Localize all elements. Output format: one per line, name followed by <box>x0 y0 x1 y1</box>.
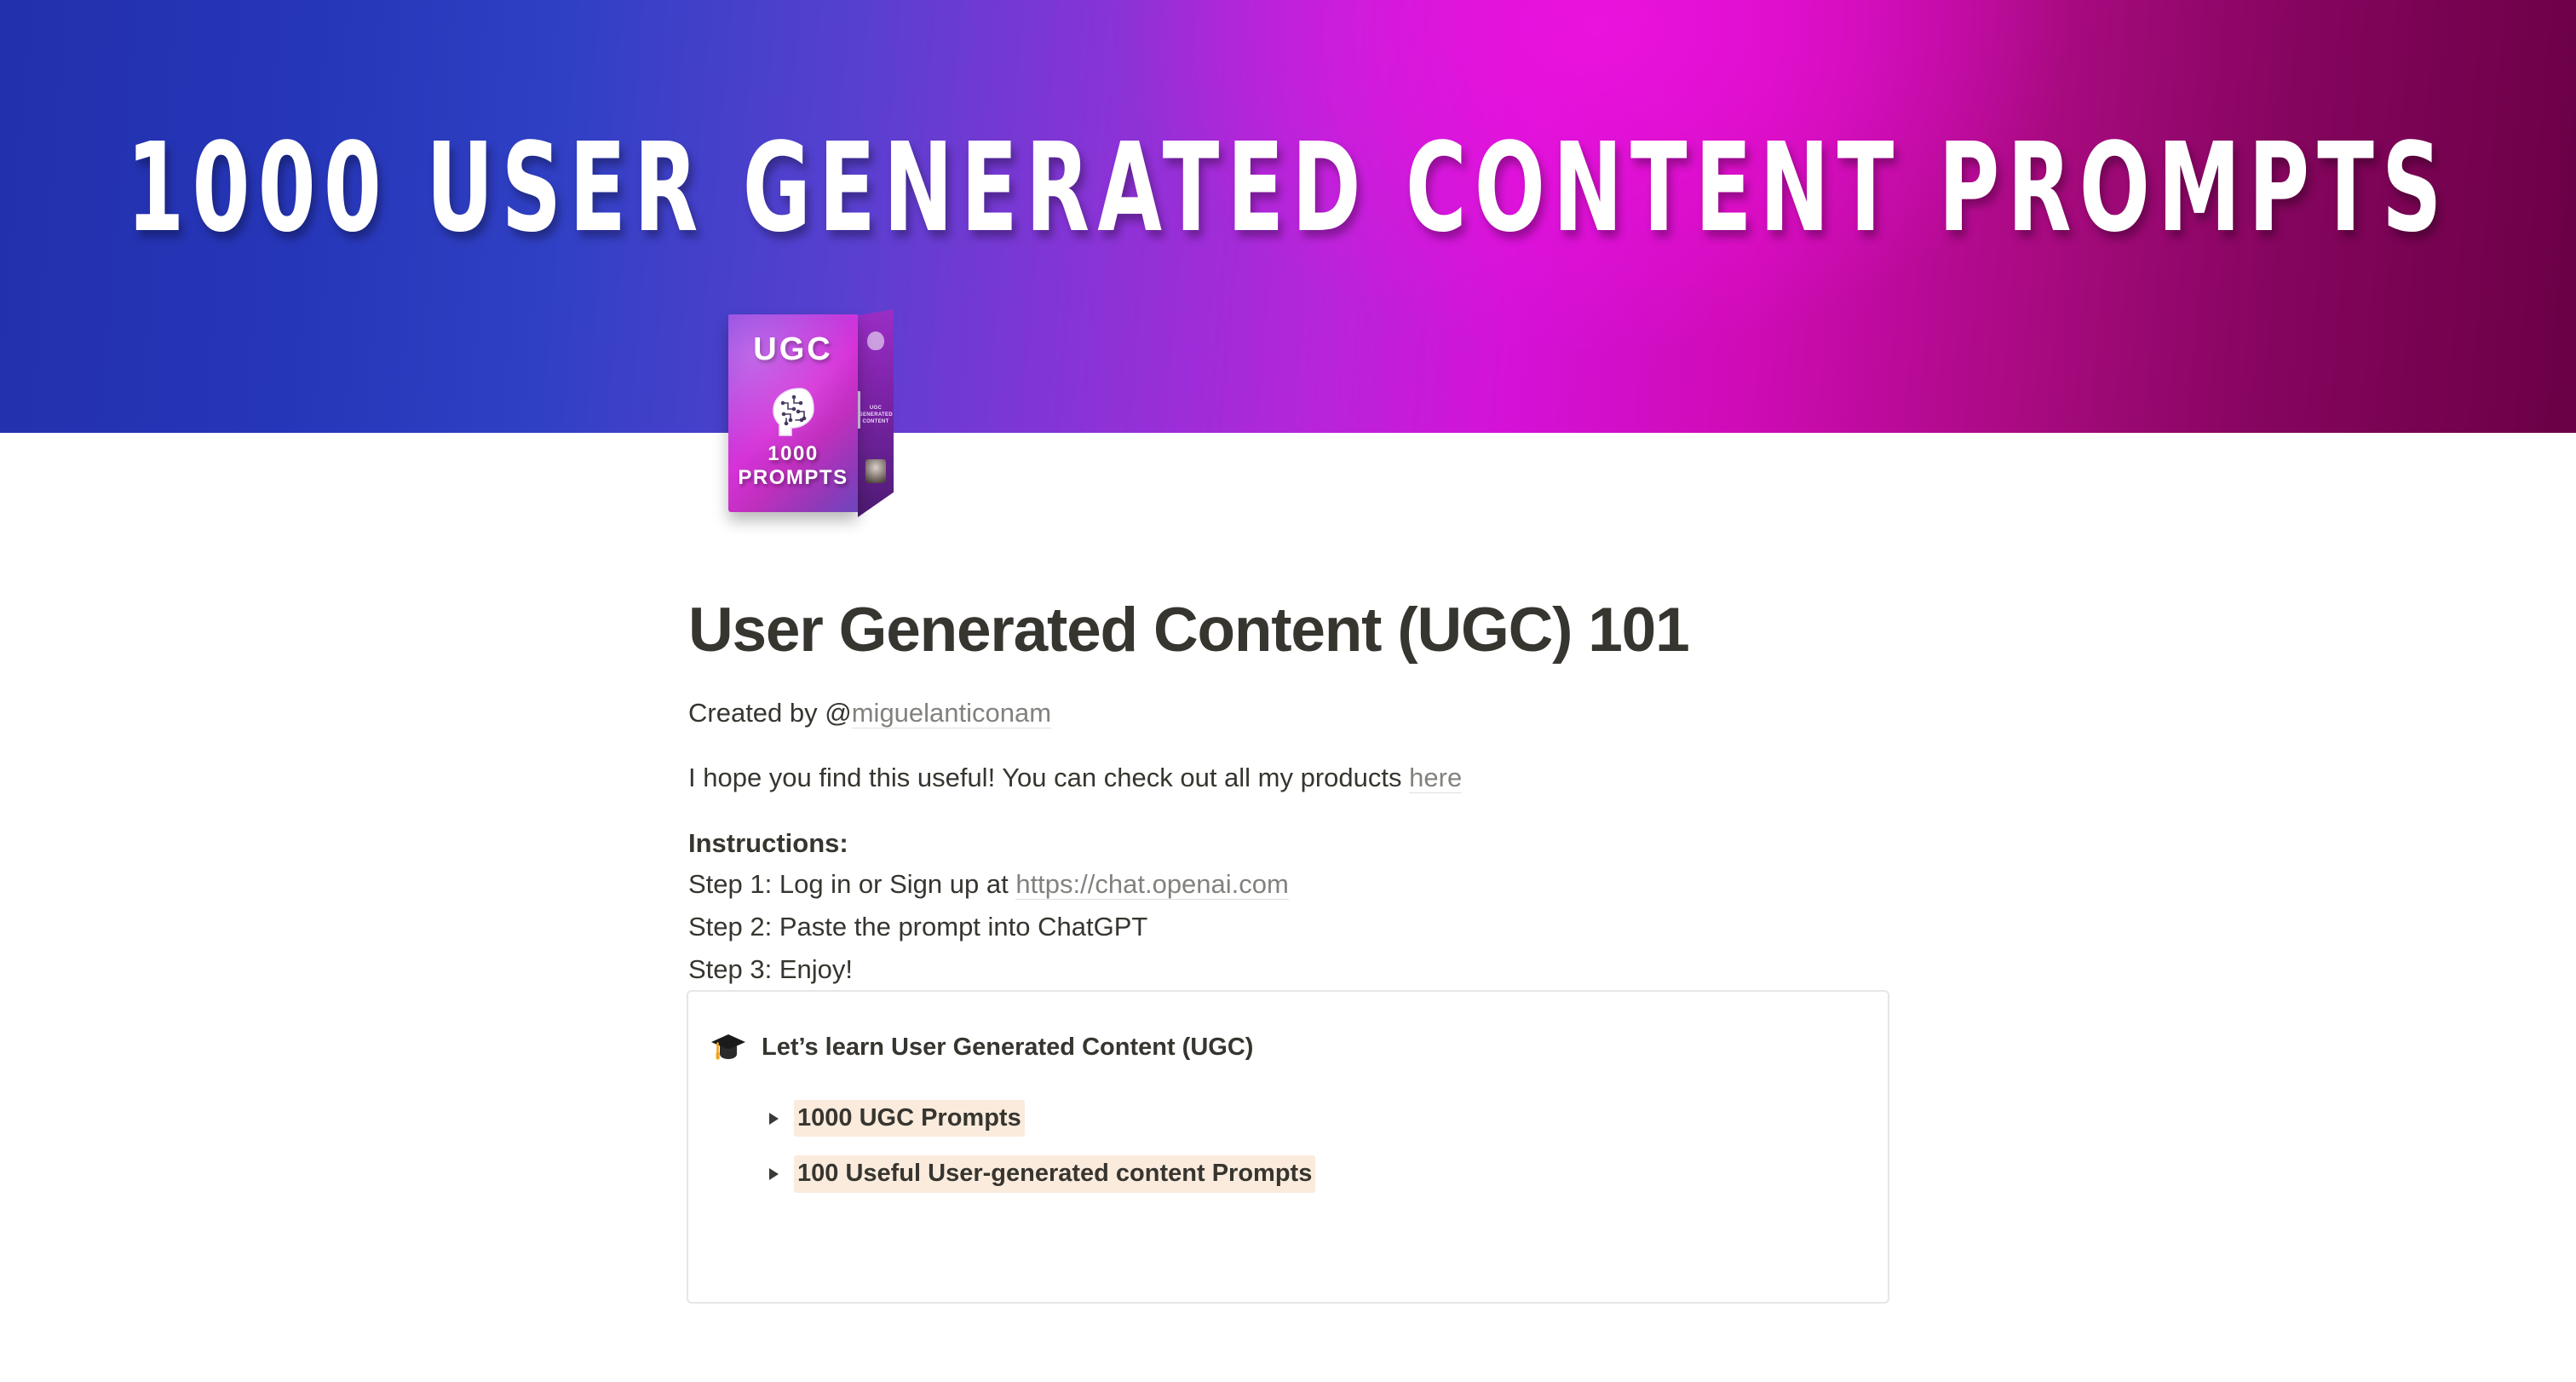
instructions-heading: Instructions: <box>688 823 1891 863</box>
created-by-line: Created by @miguelanticonam <box>688 694 1891 733</box>
brain-circuit-icon <box>766 386 820 439</box>
instruction-step-1: Step 1: Log in or Sign up at https://cha… <box>688 863 1891 906</box>
instruction-step-3: Step 3: Enjoy! <box>688 948 1891 991</box>
instruction-step-2: Step 2: Paste the prompt into ChatGPT <box>688 906 1891 948</box>
learn-callout-box: Let’s learn User Generated Content (UGC)… <box>687 990 1889 1304</box>
step-1-text: Step 1: Log in or Sign up at <box>688 869 1015 899</box>
cover-banner: 1000 USER GENERATED CONTENT PROMPTS <box>0 0 2576 433</box>
intro-text: I hope you find this useful! You can che… <box>688 763 1409 792</box>
step-3-text: Step 3: Enjoy! <box>688 954 853 984</box>
graduation-cap-icon <box>710 1033 746 1062</box>
product-box-side-brain-icon <box>867 331 884 350</box>
page-content: User Generated Content (UGC) 101 Created… <box>688 596 1891 991</box>
product-box-side-panel: UGC GENERATED CONTENT <box>858 309 894 517</box>
product-box-image: UGC GENERATED CONTENT UGC 1000 PRO <box>728 309 890 519</box>
toggle-item[interactable]: 1000 UGC Prompts <box>765 1100 1888 1137</box>
cover-banner-title: 1000 USER GENERATED CONTENT PROMPTS <box>103 126 2473 249</box>
step-2-text: Step 2: Paste the prompt into ChatGPT <box>688 912 1147 941</box>
toggle-item-label[interactable]: 100 Useful User-generated content Prompt… <box>794 1155 1315 1193</box>
chatgpt-url-link[interactable]: https://chat.openai.com <box>1015 869 1289 900</box>
product-box-top-label: UGC <box>728 331 858 368</box>
toggle-item[interactable]: 100 Useful User-generated content Prompt… <box>765 1155 1888 1193</box>
page-title: User Generated Content (UGC) 101 <box>688 596 1891 665</box>
triangle-right-icon[interactable] <box>765 1110 782 1127</box>
triangle-right-icon[interactable] <box>765 1166 782 1183</box>
intro-line: I hope you find this useful! You can che… <box>688 758 1891 798</box>
products-here-link[interactable]: here <box>1409 763 1462 793</box>
product-box-front-panel: UGC 1000 PROMPTS <box>728 314 858 512</box>
product-box-side-label: UGC GENERATED CONTENT <box>859 405 893 425</box>
creator-handle-link[interactable]: miguelanticonam <box>852 698 1051 728</box>
callout-title: Let’s learn User Generated Content (UGC) <box>762 1033 1253 1062</box>
toggle-list: 1000 UGC Prompts 100 Useful User-generat… <box>688 1062 1888 1193</box>
created-by-prefix: Created by @ <box>688 698 852 728</box>
callout-header: Let’s learn User Generated Content (UGC) <box>688 992 1888 1062</box>
product-box-side-photo <box>865 459 886 483</box>
toggle-item-label[interactable]: 1000 UGC Prompts <box>794 1100 1025 1137</box>
product-box-bottom-label: 1000 PROMPTS <box>728 442 858 490</box>
